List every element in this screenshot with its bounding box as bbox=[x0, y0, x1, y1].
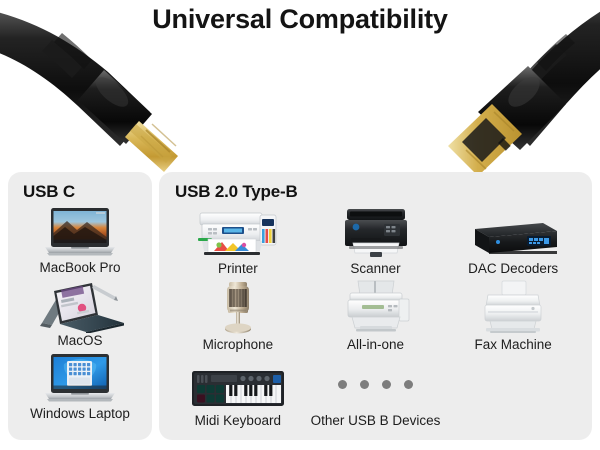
device-label: Fax Machine bbox=[475, 338, 552, 352]
device-label: MacOS bbox=[57, 334, 102, 348]
panel-usb-c-title: USB C bbox=[23, 182, 146, 202]
device-fax-machine[interactable]: Fax Machine bbox=[472, 279, 554, 352]
windows-laptop-icon bbox=[40, 350, 120, 406]
device-label: MacBook Pro bbox=[39, 261, 120, 275]
device-other-usb-b[interactable]: Other USB B Devices bbox=[311, 355, 441, 428]
all-in-one-printer-icon bbox=[336, 279, 416, 337]
panel-usb-c: USB C bbox=[8, 172, 152, 440]
dac-decoder-icon bbox=[465, 203, 561, 261]
fax-machine-icon bbox=[472, 279, 554, 337]
device-windows-laptop[interactable]: Windows Laptop bbox=[30, 350, 130, 421]
device-all-in-one[interactable]: All-in-one bbox=[336, 279, 416, 352]
macbook-pro-icon bbox=[41, 204, 119, 260]
usb-c-device-list: MacBook Pro bbox=[14, 204, 146, 424]
dot bbox=[338, 380, 347, 389]
device-macos[interactable]: MacOS bbox=[34, 277, 126, 348]
laser-scanner-icon bbox=[337, 203, 415, 261]
surface-tablet-icon bbox=[34, 277, 126, 333]
device-macbook-pro[interactable]: MacBook Pro bbox=[39, 204, 120, 275]
usb-b-column-3: DAC Decoders bbox=[444, 203, 582, 432]
device-label: Other USB B Devices bbox=[311, 414, 441, 428]
microphone-icon bbox=[214, 279, 262, 337]
device-scanner[interactable]: Scanner bbox=[337, 203, 415, 276]
device-midi-keyboard[interactable]: Midi Keyboard bbox=[189, 355, 287, 428]
usb-b-column-1: Printer bbox=[169, 203, 307, 432]
compatibility-panels: USB C bbox=[0, 172, 600, 440]
inkjet-printer-icon bbox=[192, 203, 284, 261]
panel-usb-b-title: USB 2.0 Type-B bbox=[175, 182, 584, 202]
panel-usb-b: USB 2.0 Type-B bbox=[159, 172, 592, 440]
device-label: Midi Keyboard bbox=[195, 414, 281, 428]
device-dac-decoders[interactable]: DAC Decoders bbox=[465, 203, 561, 276]
dot bbox=[404, 380, 413, 389]
page-title: Universal Compatibility bbox=[0, 4, 600, 35]
device-label: All-in-one bbox=[347, 338, 404, 352]
midi-keyboard-icon bbox=[189, 355, 287, 413]
usb-b-device-grid: Printer bbox=[167, 203, 584, 432]
dot bbox=[382, 380, 391, 389]
dots-icon bbox=[338, 355, 413, 413]
device-label: Printer bbox=[218, 262, 258, 276]
device-label: DAC Decoders bbox=[468, 262, 558, 276]
device-microphone[interactable]: Microphone bbox=[203, 279, 274, 352]
usb-b-column-2: Scanner bbox=[307, 203, 445, 432]
device-printer[interactable]: Printer bbox=[192, 203, 284, 276]
dot bbox=[360, 380, 369, 389]
device-label: Windows Laptop bbox=[30, 407, 130, 421]
device-label: Microphone bbox=[203, 338, 274, 352]
device-label: Scanner bbox=[350, 262, 400, 276]
